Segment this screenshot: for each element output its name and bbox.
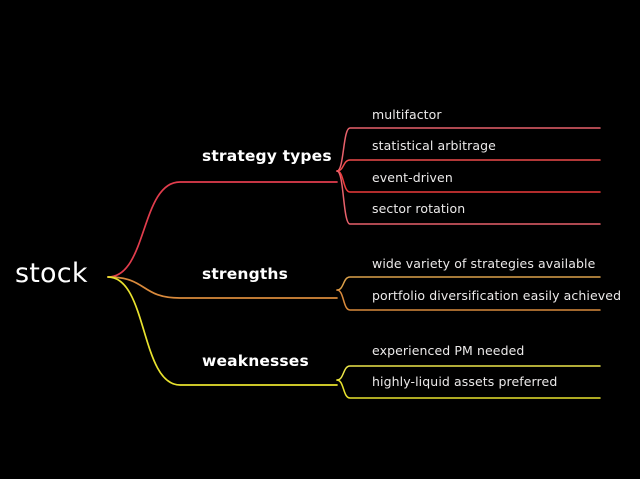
edge-root-to-strategy-types (108, 182, 337, 277)
leaf-label-strategy-types-2: event-driven (372, 170, 453, 185)
branch-label-weaknesses: weaknesses (202, 352, 309, 370)
leaf-label-strategy-types-3: sector rotation (372, 201, 465, 216)
mindmap-canvas: multifactorstatistical arbitrageevent-dr… (0, 0, 640, 479)
branch-label-strategy-types: strategy types (202, 147, 332, 165)
leaf-label-strategy-types-0: multifactor (372, 107, 442, 122)
leaf-label-strengths-0: wide variety of strategies available (372, 256, 595, 271)
leaf-label-strategy-types-1: statistical arbitrage (372, 138, 496, 153)
root-label: stock (15, 258, 88, 289)
leaf-label-weaknesses-0: experienced PM needed (372, 343, 524, 358)
leaf-label-strengths-1: portfolio diversification easily achieve… (372, 288, 621, 303)
branch-label-strengths: strengths (202, 265, 288, 283)
leaf-label-weaknesses-1: highly-liquid assets preferred (372, 374, 557, 389)
mindmap-edges (0, 0, 640, 479)
